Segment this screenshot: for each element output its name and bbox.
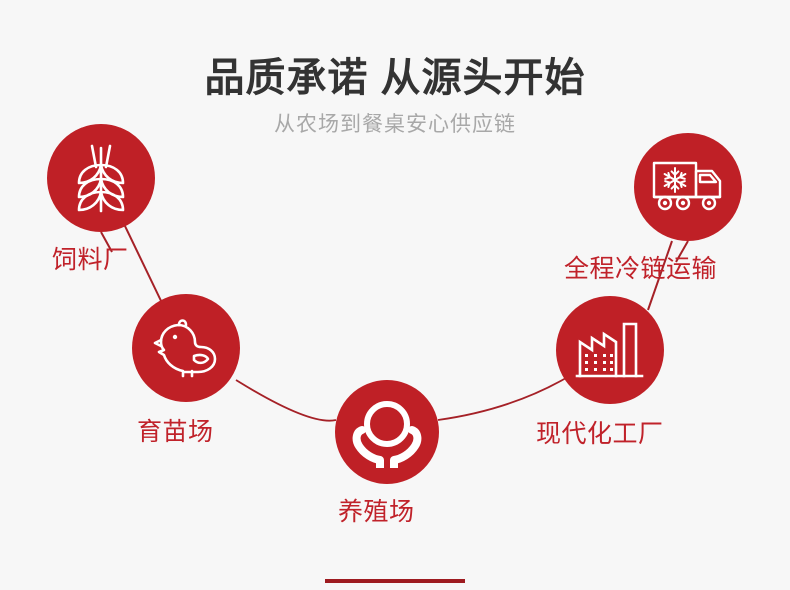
factory-bubble[interactable]: [556, 296, 664, 404]
cold-chain-bubble[interactable]: [634, 133, 742, 241]
connector-feed-to-hatchery: [124, 224, 163, 305]
hatchery-bubble[interactable]: [132, 294, 240, 402]
factory-label: 现代化工厂: [536, 422, 664, 447]
hatchery-label: 育苗场: [137, 420, 214, 445]
factory-icon: [574, 316, 646, 384]
hands-egg-icon: [350, 396, 424, 468]
chick-icon: [150, 314, 222, 382]
refrigerated-truck-icon: [650, 157, 726, 217]
wheat-icon: [68, 141, 134, 215]
connector-hatchery-to-farm: [236, 380, 336, 421]
feed-mill-bubble[interactable]: [47, 124, 155, 232]
infographic-stage: 品质承诺 从源头开始 从农场到餐桌安心供应链: [0, 0, 790, 590]
connector-farm-to-factory: [438, 378, 566, 420]
feed-mill-label: 饲料厂: [52, 248, 129, 273]
farm-bubble[interactable]: [335, 380, 439, 484]
bottom-accent-bar: [325, 579, 465, 583]
page-title: 品质承诺 从源头开始: [0, 0, 790, 99]
cold-chain-label: 全程冷链运输: [564, 257, 717, 282]
farm-label: 养殖场: [338, 500, 415, 525]
header: 品质承诺 从源头开始 从农场到餐桌安心供应链: [0, 0, 790, 136]
